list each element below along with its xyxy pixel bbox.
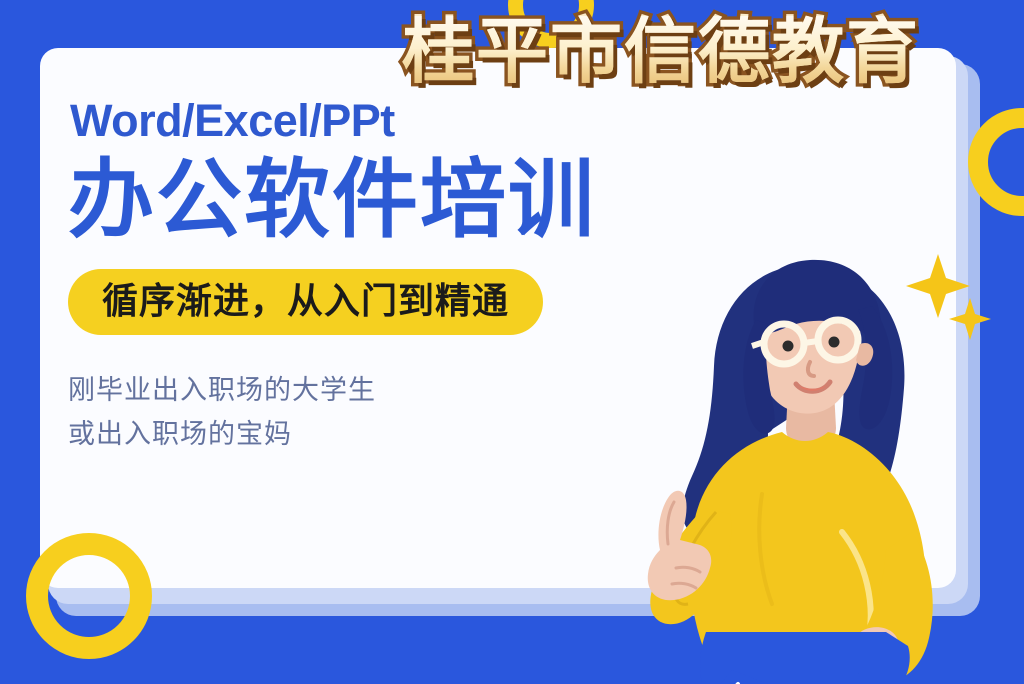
tagline-badge: 循序渐进，从入门到精通 <box>68 269 543 335</box>
poster-canvas: Word/Excel/PPt 办公软件培训 循序渐进，从入门到精通 刚毕业出入职… <box>0 0 1024 684</box>
sparkle-small-icon <box>949 298 991 340</box>
main-title: 办公软件培训 <box>68 157 728 243</box>
eyebrow-title: Word/Excel/PPt <box>70 98 728 143</box>
watermark-text-outline: 桂平市信德教育 <box>402 16 920 88</box>
figure <box>580 260 948 684</box>
sparkle-large-icon <box>906 254 970 318</box>
woman-pointing-up-illustration <box>556 232 1008 684</box>
ring-bottom-left-decoration <box>26 533 152 659</box>
